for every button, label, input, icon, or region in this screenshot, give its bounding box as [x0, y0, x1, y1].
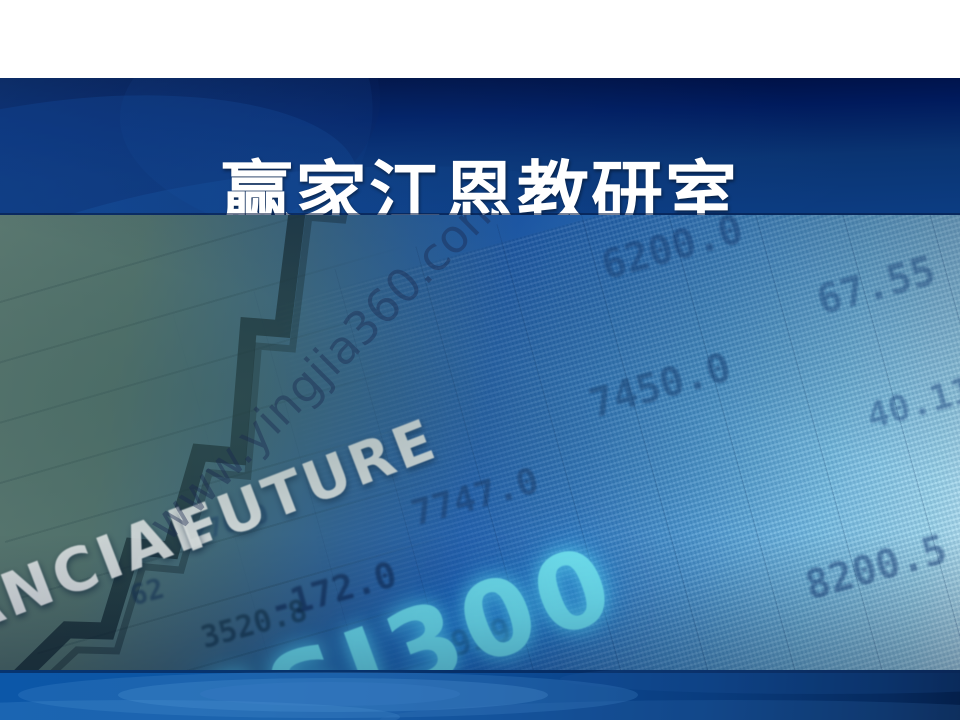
ripple-shape	[18, 672, 638, 718]
ripple-shape	[200, 682, 460, 706]
top-white-margin	[0, 0, 960, 78]
ripple-shape	[118, 678, 548, 712]
photo-vignette	[0, 215, 960, 670]
hero-photo: 6200.0 67.55 7450.0 40.11 8200.5 7747.0 …	[0, 215, 960, 670]
ripple-shape	[0, 700, 400, 720]
bottom-decoration-strip	[0, 670, 960, 720]
ripple-shape	[380, 700, 960, 720]
presentation-slide: 赢家江恩教研室 6200.0 67.55 7450.0 40.11 8200.5…	[0, 0, 960, 720]
strip-top-rule	[0, 670, 960, 673]
ripple-shape	[560, 670, 960, 694]
